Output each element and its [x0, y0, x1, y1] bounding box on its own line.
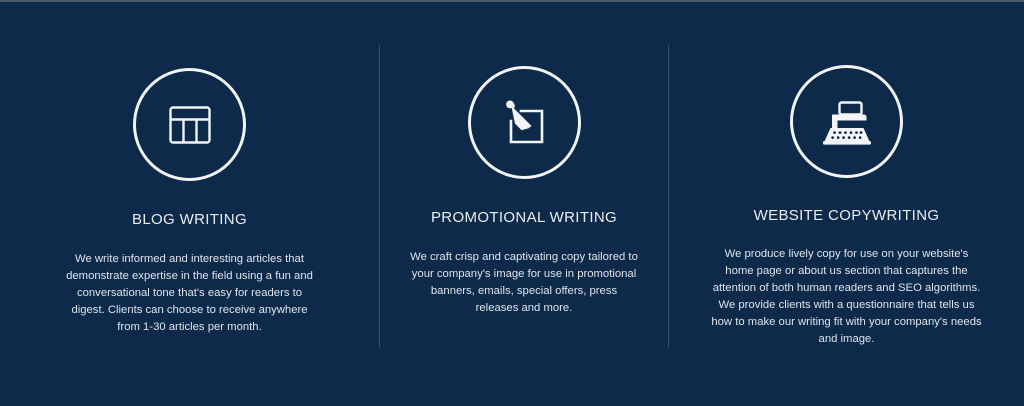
pencil-edit-square-icon — [498, 97, 550, 149]
service-title-promotional-writing: PROMOTIONAL WRITING — [380, 209, 668, 227]
page-layout-icon — [165, 100, 215, 150]
service-column-promotional-writing: PROMOTIONAL WRITING We craft crisp and c… — [380, 0, 668, 406]
service-column-website-copywriting: WEBSITE COPYWRITING We produce lively co… — [669, 0, 1024, 406]
service-body-website-copywriting: We produce lively copy for use on your w… — [711, 246, 983, 348]
services-section: BLOG WRITING We write informed and inter… — [0, 0, 1024, 406]
service-title-blog-writing: BLOG WRITING — [0, 211, 379, 229]
icon-ring-promotional-writing — [468, 66, 581, 179]
typewriter-icon — [820, 97, 874, 147]
icon-ring-website-copywriting — [790, 65, 903, 178]
icon-ring-blog-writing — [133, 68, 246, 181]
service-title-website-copywriting: WEBSITE COPYWRITING — [669, 207, 1024, 225]
service-column-blog-writing: BLOG WRITING We write informed and inter… — [0, 0, 379, 406]
service-body-promotional-writing: We craft crisp and captivating copy tail… — [408, 249, 640, 317]
service-body-blog-writing: We write informed and interesting articl… — [64, 251, 316, 336]
